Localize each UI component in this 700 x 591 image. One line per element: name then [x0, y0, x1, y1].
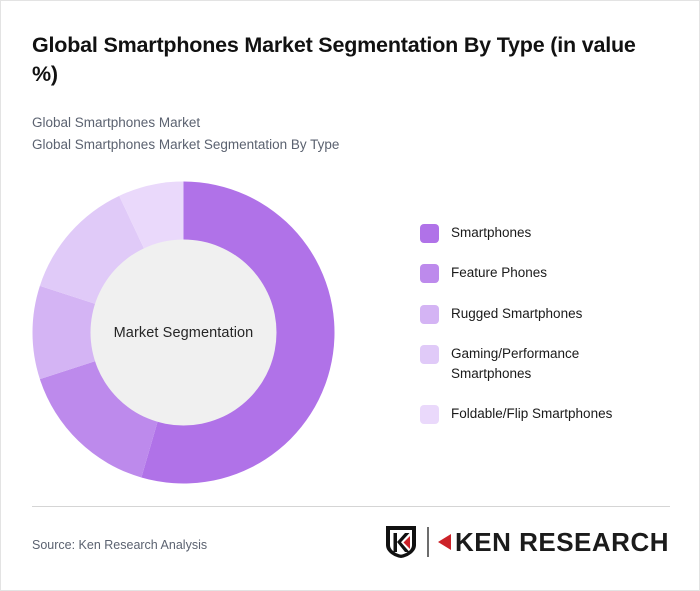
brand-logo: KEN RESEARCH: [384, 521, 669, 563]
chart-area: Market Segmentation SmartphonesFeature P…: [1, 161, 700, 506]
legend-item[interactable]: Foldable/Flip Smartphones: [420, 404, 682, 424]
legend-item[interactable]: Gaming/Performance Smartphones: [420, 344, 682, 385]
legend-label: Gaming/Performance Smartphones: [451, 344, 641, 385]
brand-text-group: KEN RESEARCH: [427, 527, 669, 558]
brand-name: KEN RESEARCH: [455, 527, 669, 558]
legend-swatch-icon: [420, 305, 439, 324]
footer-divider: [32, 506, 670, 507]
brand-triangle-icon: [437, 532, 452, 552]
legend-item[interactable]: Smartphones: [420, 223, 682, 243]
page-title: Global Smartphones Market Segmentation B…: [32, 31, 666, 88]
subtitle-block: Global Smartphones Market Global Smartph…: [32, 112, 532, 156]
legend-swatch-icon: [420, 264, 439, 283]
donut-svg: [26, 175, 341, 490]
subtitle-line-2: Global Smartphones Market Segmentation B…: [32, 134, 532, 156]
legend-swatch-icon: [420, 405, 439, 424]
legend-label: Foldable/Flip Smartphones: [451, 404, 612, 424]
source-note: Source: Ken Research Analysis: [32, 538, 207, 552]
legend-swatch-icon: [420, 224, 439, 243]
donut-hole: [91, 240, 277, 426]
legend-label: Rugged Smartphones: [451, 304, 582, 324]
chart-card: Global Smartphones Market Segmentation B…: [0, 0, 700, 591]
donut-chart: Market Segmentation: [26, 175, 341, 490]
legend-item[interactable]: Feature Phones: [420, 263, 682, 283]
chart-legend: SmartphonesFeature PhonesRugged Smartpho…: [420, 223, 682, 425]
ken-research-shield-icon: [384, 524, 418, 560]
brand-divider-bar: [427, 527, 429, 557]
legend-label: Smartphones: [451, 223, 531, 243]
subtitle-line-1: Global Smartphones Market: [32, 112, 532, 134]
legend-item[interactable]: Rugged Smartphones: [420, 304, 682, 324]
legend-label: Feature Phones: [451, 263, 547, 283]
legend-swatch-icon: [420, 345, 439, 364]
